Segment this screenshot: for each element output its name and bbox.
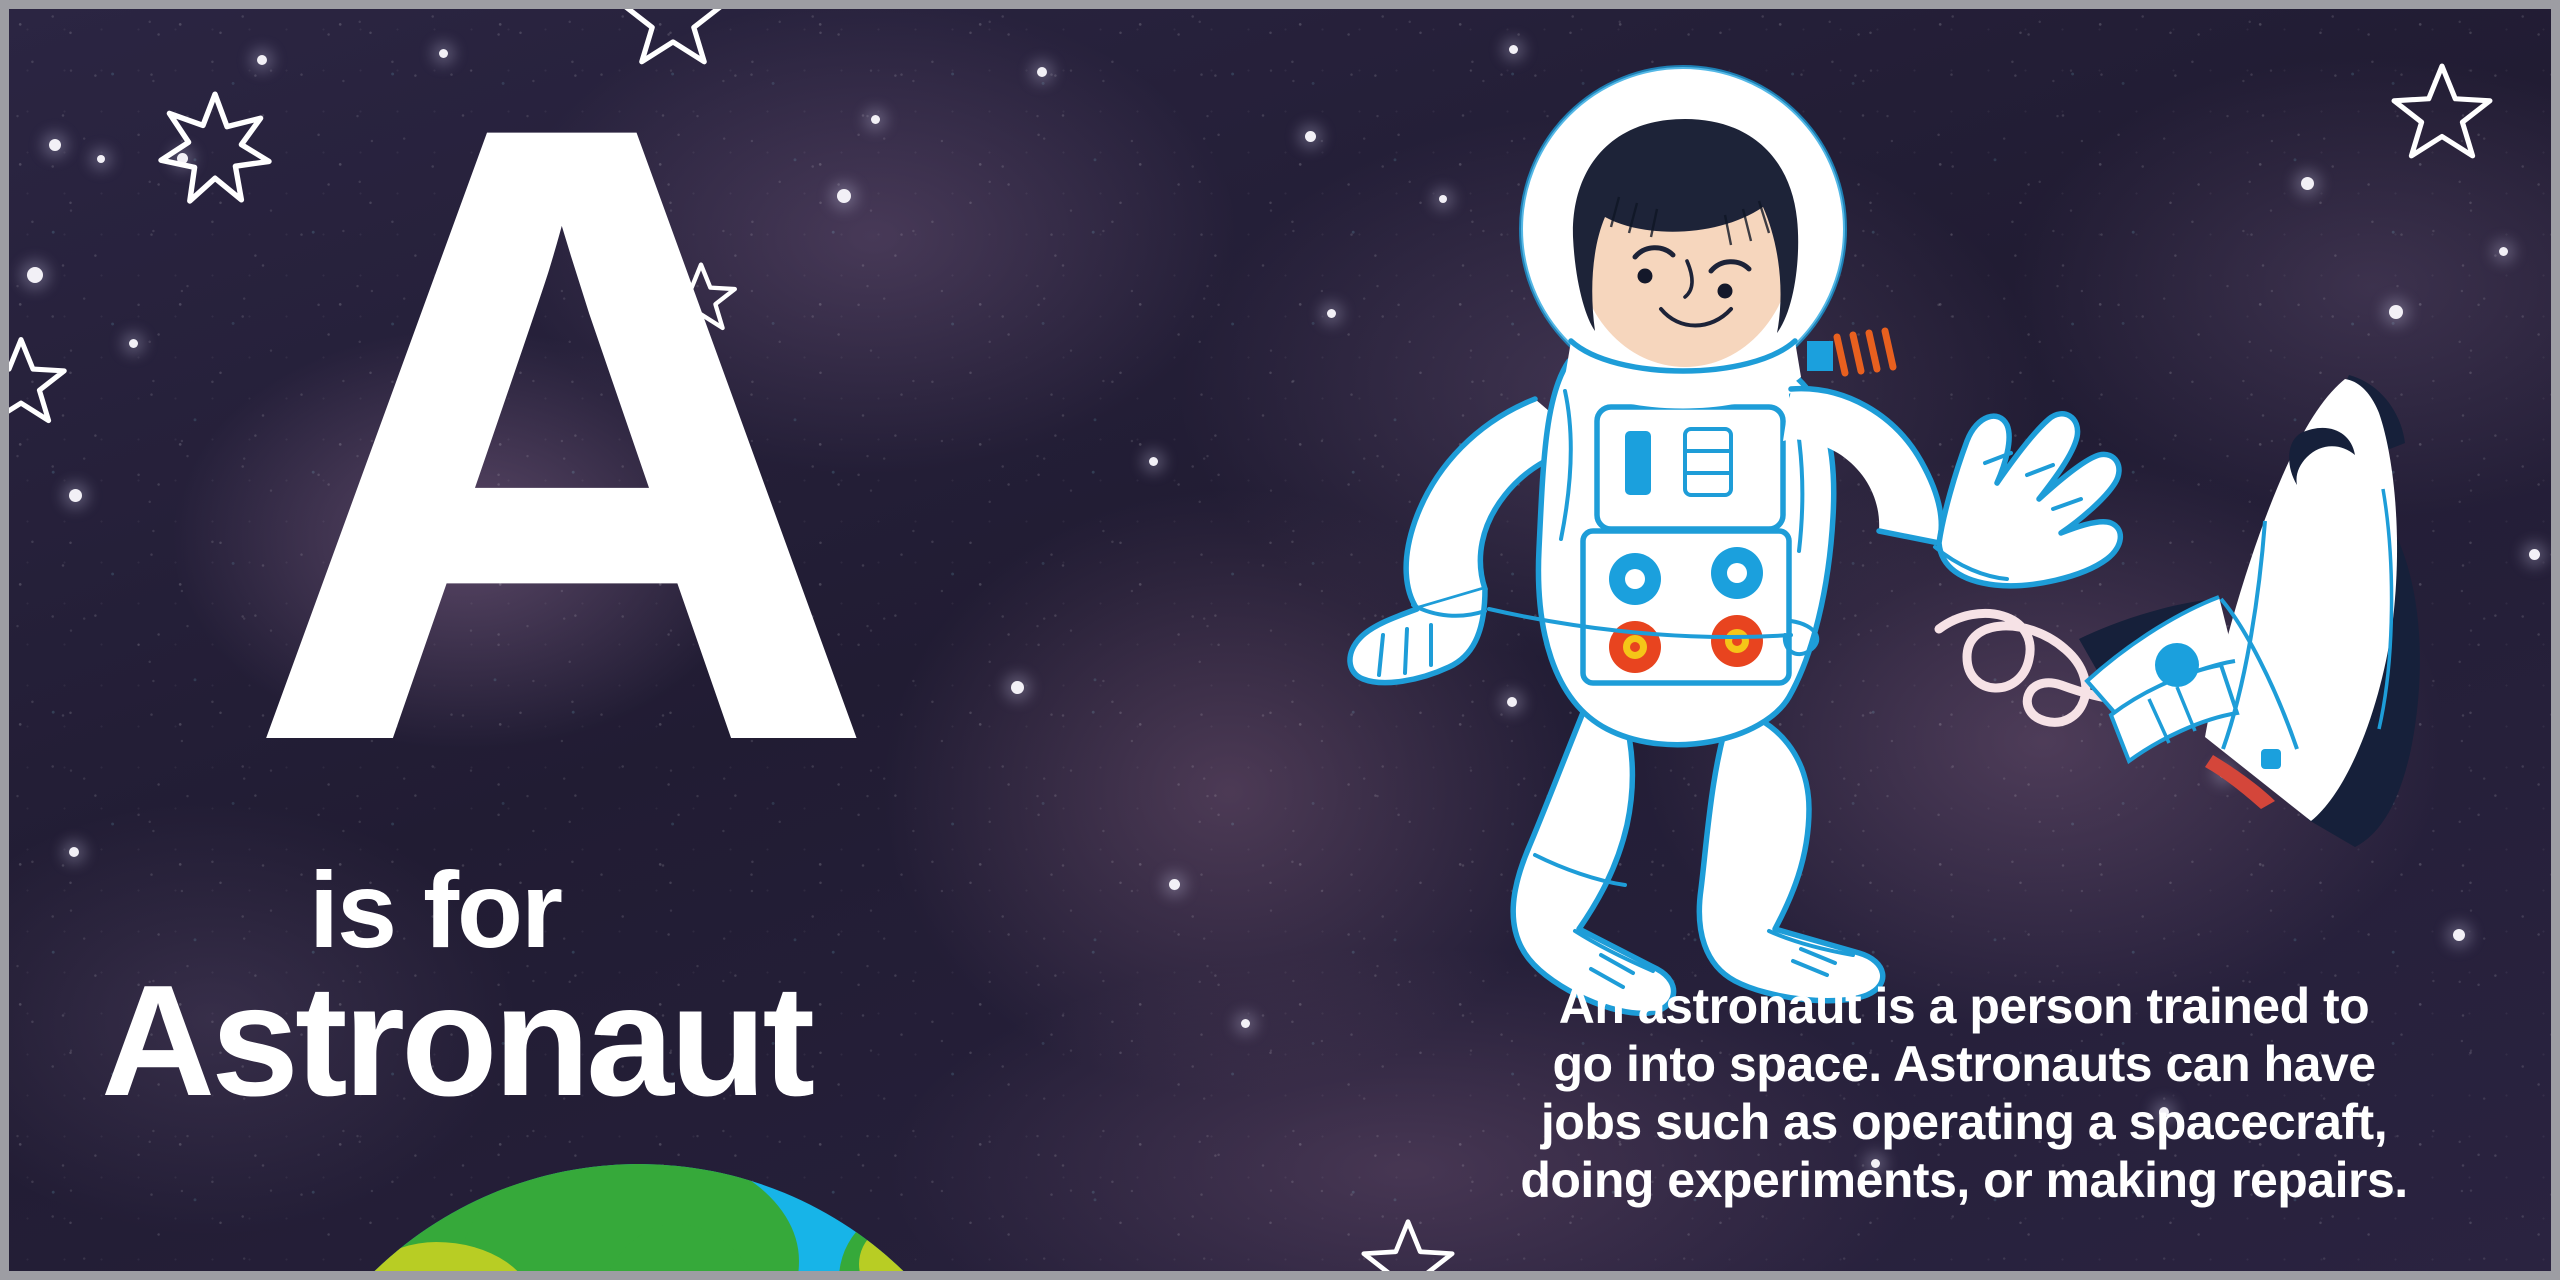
star-dot [1011,681,1024,694]
star-dot [1149,457,1158,466]
body-line: jobs such as operating a spacecraft, [1459,1093,2469,1151]
astronaut: .sw { fill:#ffffff; } .ol { fill:none; s… [1339,69,2119,1069]
star-dot [1327,309,1336,318]
star-dot [2453,929,2465,941]
star-dot [69,489,82,502]
chest-panel [1597,407,1783,529]
star-dot [27,267,43,283]
star-dot [2389,305,2403,319]
eye-right [1718,284,1733,299]
star-dot [129,339,138,348]
star-outline-5point-icon [2391,61,2493,163]
button-blue-inner [1625,569,1645,589]
button-blue-inner [1727,563,1747,583]
star-dot [1509,45,1518,54]
star-dot [2499,247,2508,256]
star-dot [2301,177,2314,190]
blue-dot-marking [2155,643,2199,687]
body-line: doing experiments, or making repairs. [1459,1151,2469,1209]
flag-patch [1807,331,1893,373]
star-dot [69,847,79,857]
space-shuttle [2049,369,2489,849]
page-word: Astronaut [101,961,811,1121]
illustration-page: .sw { fill:#ffffff; } .ol { fill:none; s… [0,0,2560,1280]
body-line: go into space. Astronauts can have [1459,1035,2469,1093]
body-line: An astronaut is a person trained to [1459,977,2469,1035]
star-dot [49,139,61,151]
star-dot [97,155,105,163]
star-dot [1241,1019,1250,1028]
star-outline-5point-icon [1361,1217,1455,1280]
panel-switch-bar [1625,431,1651,495]
button-red-core [1630,642,1640,652]
star-dot [1169,879,1180,890]
body-paragraph: An astronaut is a person trained to go i… [1459,977,2469,1209]
star-outline-5point-icon [0,335,67,427]
star-dot [1305,131,1316,142]
eye-left [1638,269,1653,284]
star-dot [1037,67,1047,77]
blue-square-marking [2261,749,2281,769]
page-letter: A [237,39,877,829]
is-for-label: is for [309,855,561,965]
star-dot [2529,549,2540,560]
